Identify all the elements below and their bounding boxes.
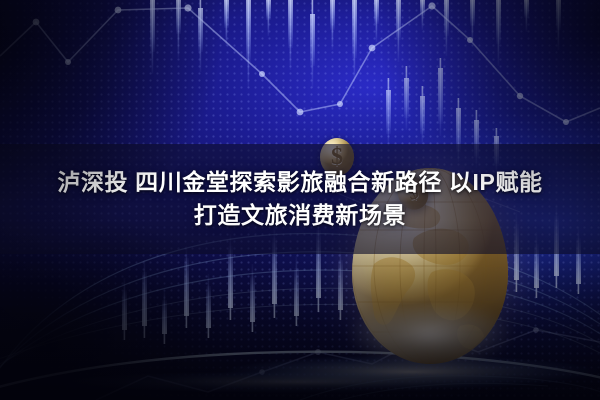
banner-image: $ $ 泸深投 四川金堂探索影旅融合新路径 以IP赋能 打造文旅消费新场景 (0, 0, 600, 400)
vignette-overall (0, 0, 600, 400)
